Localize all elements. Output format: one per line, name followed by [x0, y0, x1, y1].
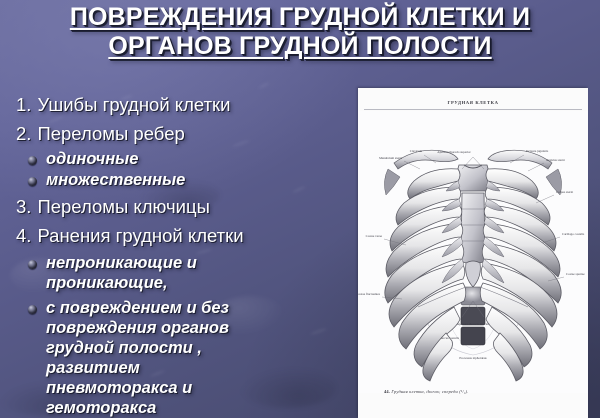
- sphere-bullet-icon: [28, 260, 37, 269]
- anatomy-header-label: ГРУДНАЯ КЛЕТКА: [358, 100, 588, 105]
- sphere-bullet-icon: [28, 177, 37, 186]
- manubrium-sterni: [457, 165, 489, 191]
- list-item-label: с повреждением и без повреждения органов…: [46, 298, 258, 418]
- list-item: 3. Переломы ключицы: [16, 193, 350, 220]
- list-item-label: Переломы ребер: [37, 120, 184, 147]
- anatomy-figure-caption: 44. Грудная клетка, thorax; спереди (¹/₃…: [384, 389, 574, 394]
- list-item-number: 4.: [16, 222, 37, 249]
- svg-text:Manubrium sterni: Manubrium sterni: [379, 156, 402, 160]
- list-item: множественные: [16, 170, 350, 190]
- svg-text:Costae verae: Costae verae: [366, 234, 383, 238]
- svg-text:Processus xiphoideus: Processus xiphoideus: [459, 356, 487, 360]
- svg-text:Corpus sterni: Corpus sterni: [556, 190, 573, 194]
- list-item-number: 1.: [16, 91, 37, 118]
- svg-text:Arcus costalis: Arcus costalis: [441, 336, 460, 340]
- anatomy-caption-number: 44.: [384, 389, 390, 394]
- anatomy-image-panel: ГРУДНАЯ КЛЕТКА: [358, 88, 588, 418]
- svg-text:Incisura jugularis: Incisura jugularis: [526, 149, 549, 153]
- svg-text:Costae fluctuantes: Costae fluctuantes: [358, 292, 381, 296]
- anatomy-caption-text: Грудная клетка, thorax; спереди (¹/₃).: [391, 389, 468, 394]
- bg-texture-streak: [258, 82, 270, 90]
- title-line-2: ОРГАНОВ ГРУДНОЙ ПОЛОСТИ: [108, 32, 491, 61]
- svg-text:Clavicula: Clavicula: [410, 149, 423, 153]
- list-item-number: 2.: [16, 120, 37, 147]
- list-item: с повреждением и без повреждения органов…: [16, 298, 350, 418]
- presentation-slide: ПОВРЕЖДЕНИЯ ГРУДНОЙ КЛЕТКИ И ОРГАНОВ ГРУ…: [0, 0, 600, 418]
- list-item: 1. Ушибы грудной клетки: [16, 91, 350, 118]
- anatomy-header-rule: [364, 109, 582, 110]
- thorax-ribcage-illustration: Apertura thoracis superior Clavicula Man…: [358, 111, 588, 393]
- list-item-label: множественные: [46, 170, 185, 190]
- svg-text:Apertura thoracis inferior: Apertura thoracis inferior: [457, 322, 491, 326]
- content-list: 1. Ушибы грудной клетки 2. Переломы ребе…: [16, 91, 350, 418]
- list-item: одиночные: [16, 149, 350, 169]
- list-item: 4. Ранения грудной клетки: [16, 222, 350, 249]
- list-item-label: Ранения грудной клетки: [37, 222, 243, 249]
- list-item-label: одиночные: [46, 149, 138, 169]
- sphere-bullet-icon: [28, 156, 37, 165]
- svg-text:Costae spuriae: Costae spuriae: [566, 272, 585, 276]
- slide-title: ПОВРЕЖДЕНИЯ ГРУДНОЙ КЛЕТКИ И ОРГАНОВ ГРУ…: [0, 3, 600, 61]
- list-item: 2. Переломы ребер: [16, 120, 350, 147]
- svg-text:Apertura thoracis superior: Apertura thoracis superior: [437, 150, 471, 154]
- svg-text:Angulus sterni: Angulus sterni: [546, 158, 565, 162]
- svg-text:Cartilago costalis: Cartilago costalis: [562, 232, 585, 236]
- corpus-sterni: [461, 193, 485, 264]
- list-item: непроникающие и проникающие,: [16, 253, 350, 293]
- title-line-1: ПОВРЕЖДЕНИЯ ГРУДНОЙ КЛЕТКИ И: [70, 3, 530, 32]
- list-item-label: Ушибы грудной клетки: [37, 91, 230, 118]
- list-item-label: непроникающие и проникающие,: [46, 253, 246, 293]
- list-item-label: Переломы ключицы: [37, 193, 209, 220]
- sphere-bullet-icon: [28, 305, 37, 314]
- list-item-number: 3.: [16, 193, 37, 220]
